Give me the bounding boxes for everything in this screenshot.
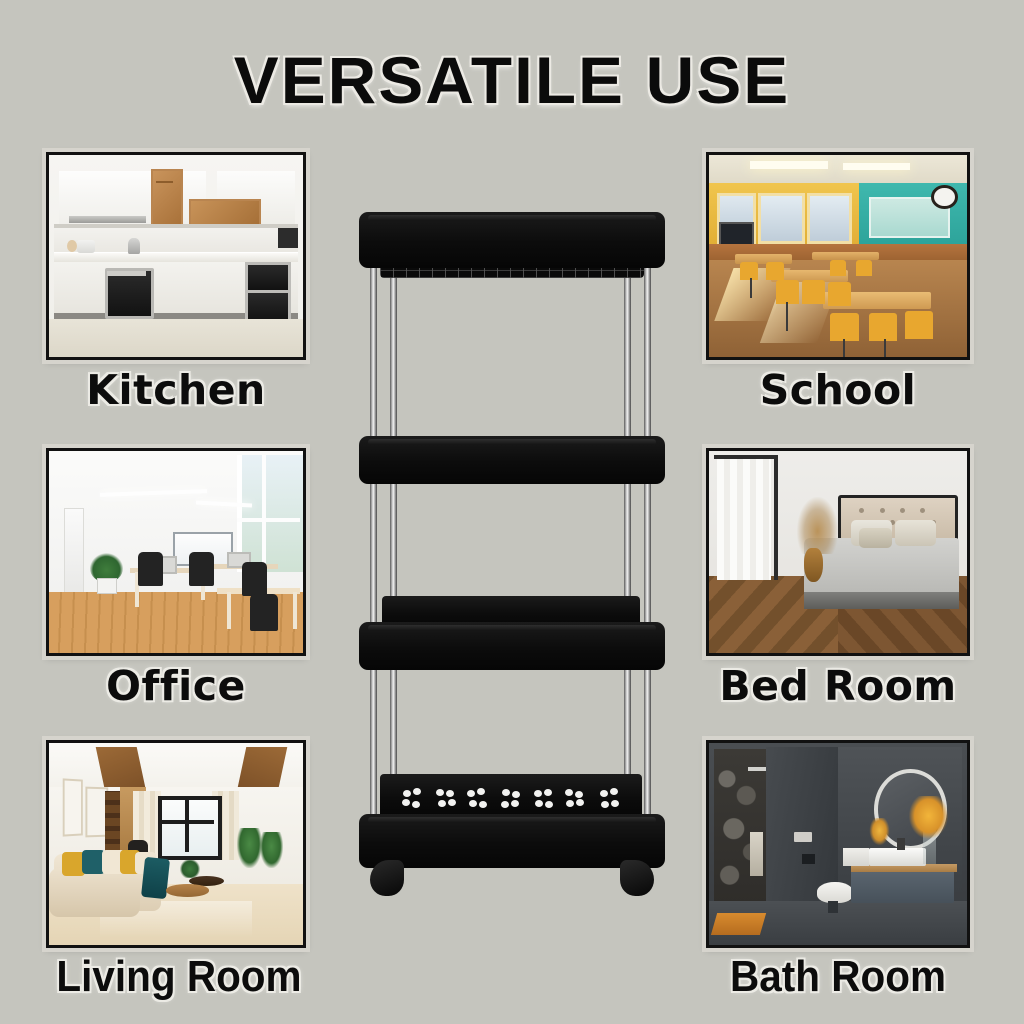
cart-post-left-front bbox=[370, 242, 377, 867]
photo-bedroom bbox=[709, 451, 967, 653]
photo-frame-school bbox=[706, 152, 970, 360]
card-label-school: School bbox=[706, 366, 970, 414]
cart-tier-2-tray bbox=[359, 436, 665, 484]
card-bedroom[interactable]: Bed Room bbox=[706, 448, 970, 656]
card-school[interactable]: School bbox=[706, 152, 970, 360]
drain-hole-cluster bbox=[533, 788, 557, 814]
cart-caster-right bbox=[620, 860, 654, 896]
card-label-livingroom: Living Room bbox=[56, 952, 295, 1002]
cart-tier-3-lip bbox=[368, 625, 656, 631]
photo-kitchen bbox=[49, 155, 303, 357]
cart-post-left-back bbox=[390, 242, 397, 857]
card-label-bedroom: Bed Room bbox=[706, 662, 970, 710]
card-bathroom[interactable]: Bath Room bbox=[706, 740, 970, 948]
cart-tier-2-lip bbox=[368, 439, 656, 445]
drain-hole-cluster bbox=[402, 788, 426, 814]
drain-hole-cluster bbox=[467, 788, 491, 814]
drain-hole-cluster bbox=[435, 788, 459, 814]
card-label-kitchen: Kitchen bbox=[46, 366, 306, 414]
cart-tier-3-tray bbox=[359, 622, 665, 670]
photo-livingroom bbox=[49, 743, 303, 945]
drain-hole-cluster bbox=[565, 788, 589, 814]
drain-hole-cluster bbox=[598, 788, 622, 814]
product-image-storage-cart bbox=[352, 198, 672, 898]
photo-frame-bedroom bbox=[706, 448, 970, 656]
photo-frame-bathroom bbox=[706, 740, 970, 948]
drain-hole-cluster bbox=[500, 788, 524, 814]
photo-frame-kitchen bbox=[46, 152, 306, 360]
card-label-office: Office bbox=[46, 662, 306, 710]
cart-tier-4-lip bbox=[368, 817, 656, 823]
photo-school bbox=[709, 155, 967, 357]
photo-frame-office bbox=[46, 448, 306, 656]
card-livingroom[interactable]: Living Room bbox=[46, 740, 306, 948]
card-kitchen[interactable]: Kitchen bbox=[46, 152, 306, 360]
photo-office bbox=[49, 451, 303, 653]
card-office[interactable]: Office bbox=[46, 448, 306, 656]
page-title: VERSATILE USE bbox=[0, 42, 1024, 118]
photo-bathroom bbox=[709, 743, 967, 945]
cart-drainage-holes bbox=[402, 788, 622, 814]
card-label-bathroom: Bath Room bbox=[717, 952, 960, 1002]
photo-frame-livingroom bbox=[46, 740, 306, 948]
cart-tier-4-tray bbox=[359, 814, 665, 868]
cart-tier-1-tray bbox=[359, 212, 665, 268]
cart-post-right-back bbox=[644, 242, 651, 857]
cart-caster-left bbox=[370, 860, 404, 896]
cart-tier-1-lip bbox=[368, 215, 656, 221]
